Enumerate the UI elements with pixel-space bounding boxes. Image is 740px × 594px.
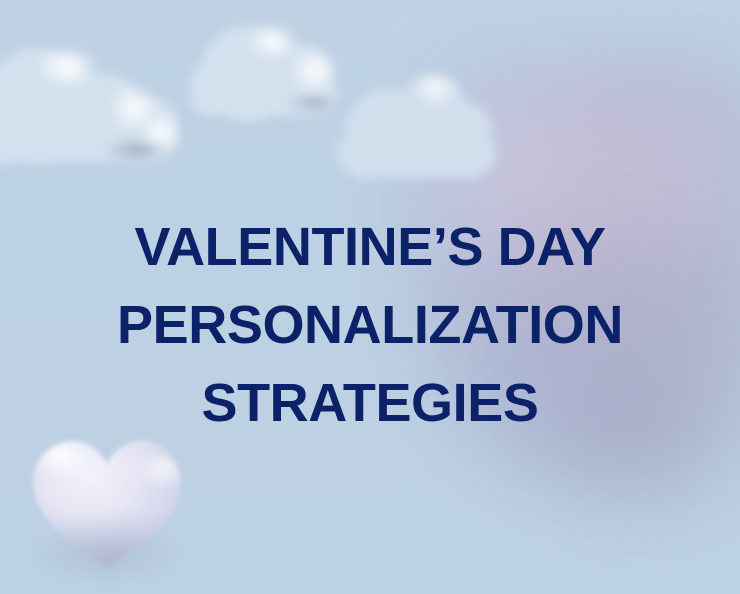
valentines-day-banner: VALENTINE’S DAY PERSONALIZATION STRATEGI… — [0, 0, 740, 594]
page-title: VALENTINE’S DAY PERSONALIZATION STRATEGI… — [0, 208, 740, 442]
headline-line-2: PERSONALIZATION — [0, 286, 740, 364]
headline-line-1: VALENTINE’S DAY — [0, 208, 740, 286]
headline-line-3: STRATEGIES — [0, 364, 740, 442]
